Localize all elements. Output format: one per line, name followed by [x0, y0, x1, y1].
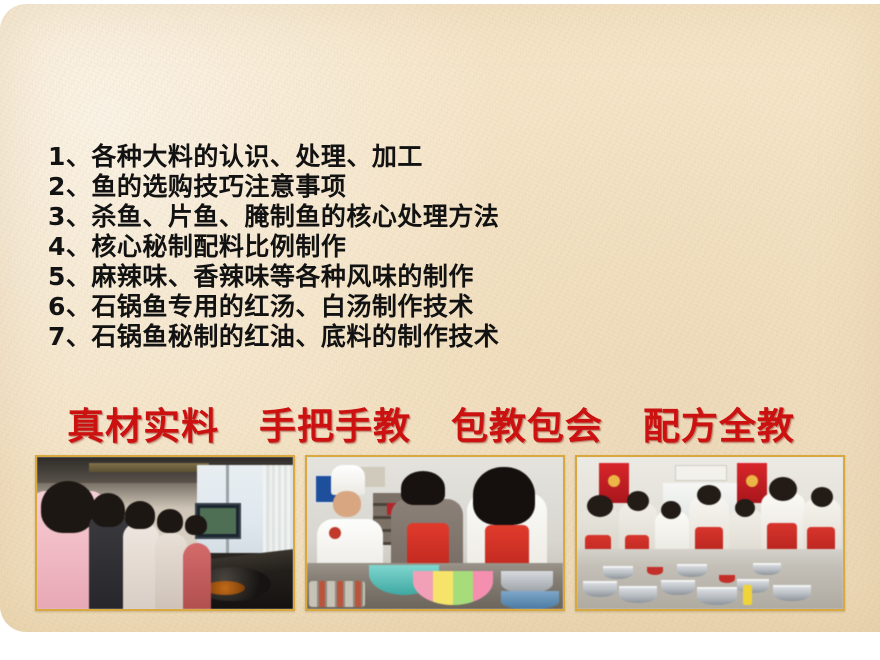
list-item-text: 核心秘制配料比例制作 — [91, 232, 346, 262]
slogan-phrase: 手把手教 — [259, 396, 411, 450]
slogan-phrase: 真材实料 — [67, 396, 219, 450]
list-item-text: 石锅鱼专用的红汤、白汤制作技术 — [91, 292, 474, 322]
list-item: 2、 鱼的选购技巧注意事项 — [48, 172, 748, 202]
curriculum-list: 1、 各种大料的认识、处理、加工 2、 鱼的选购技巧注意事项 3、 杀鱼、片鱼、… — [48, 142, 748, 352]
list-item: 4、 核心秘制配料比例制作 — [48, 232, 748, 262]
list-item-number: 6、 — [48, 292, 91, 322]
list-item-number: 2、 — [48, 172, 91, 202]
list-item-number: 4、 — [48, 232, 91, 262]
list-item-text: 各种大料的认识、处理、加工 — [91, 142, 423, 172]
list-item-text: 鱼的选购技巧注意事项 — [91, 172, 346, 202]
list-item-text: 杀鱼、片鱼、腌制鱼的核心处理方法 — [91, 202, 499, 232]
slide-canvas: 1、 各种大料的认识、处理、加工 2、 鱼的选购技巧注意事项 3、 杀鱼、片鱼、… — [0, 4, 880, 632]
list-item: 6、 石锅鱼专用的红汤、白汤制作技术 — [48, 292, 748, 322]
list-item: 7、 石锅鱼秘制的红油、底料的制作技术 — [48, 322, 748, 352]
list-item-number: 7、 — [48, 322, 91, 352]
slogan-phrase: 配方全教 — [643, 396, 795, 450]
list-item: 1、 各种大料的认识、处理、加工 — [48, 142, 748, 172]
list-item-number: 5、 — [48, 262, 91, 292]
list-item-number: 3、 — [48, 202, 91, 232]
photo-cooking-line — [35, 455, 295, 611]
list-item-number: 1、 — [48, 142, 91, 172]
photo-chef-teaching — [305, 455, 565, 611]
slogan-banner: 真材实料 手把手教 包教包会 配方全教 — [0, 396, 862, 450]
photo-strip — [35, 455, 845, 607]
photo-scene — [577, 457, 843, 609]
list-item: 3、 杀鱼、片鱼、腌制鱼的核心处理方法 — [48, 202, 748, 232]
photo-scene — [37, 457, 293, 609]
list-item-text: 石锅鱼秘制的红油、底料的制作技术 — [91, 322, 499, 352]
list-item-text: 麻辣味、香辣味等各种风味的制作 — [91, 262, 474, 292]
photo-scene — [307, 457, 563, 609]
list-item: 5、 麻辣味、香辣味等各种风味的制作 — [48, 262, 748, 292]
slogan-phrase: 包教包会 — [451, 396, 603, 450]
photo-classroom-group — [575, 455, 845, 611]
